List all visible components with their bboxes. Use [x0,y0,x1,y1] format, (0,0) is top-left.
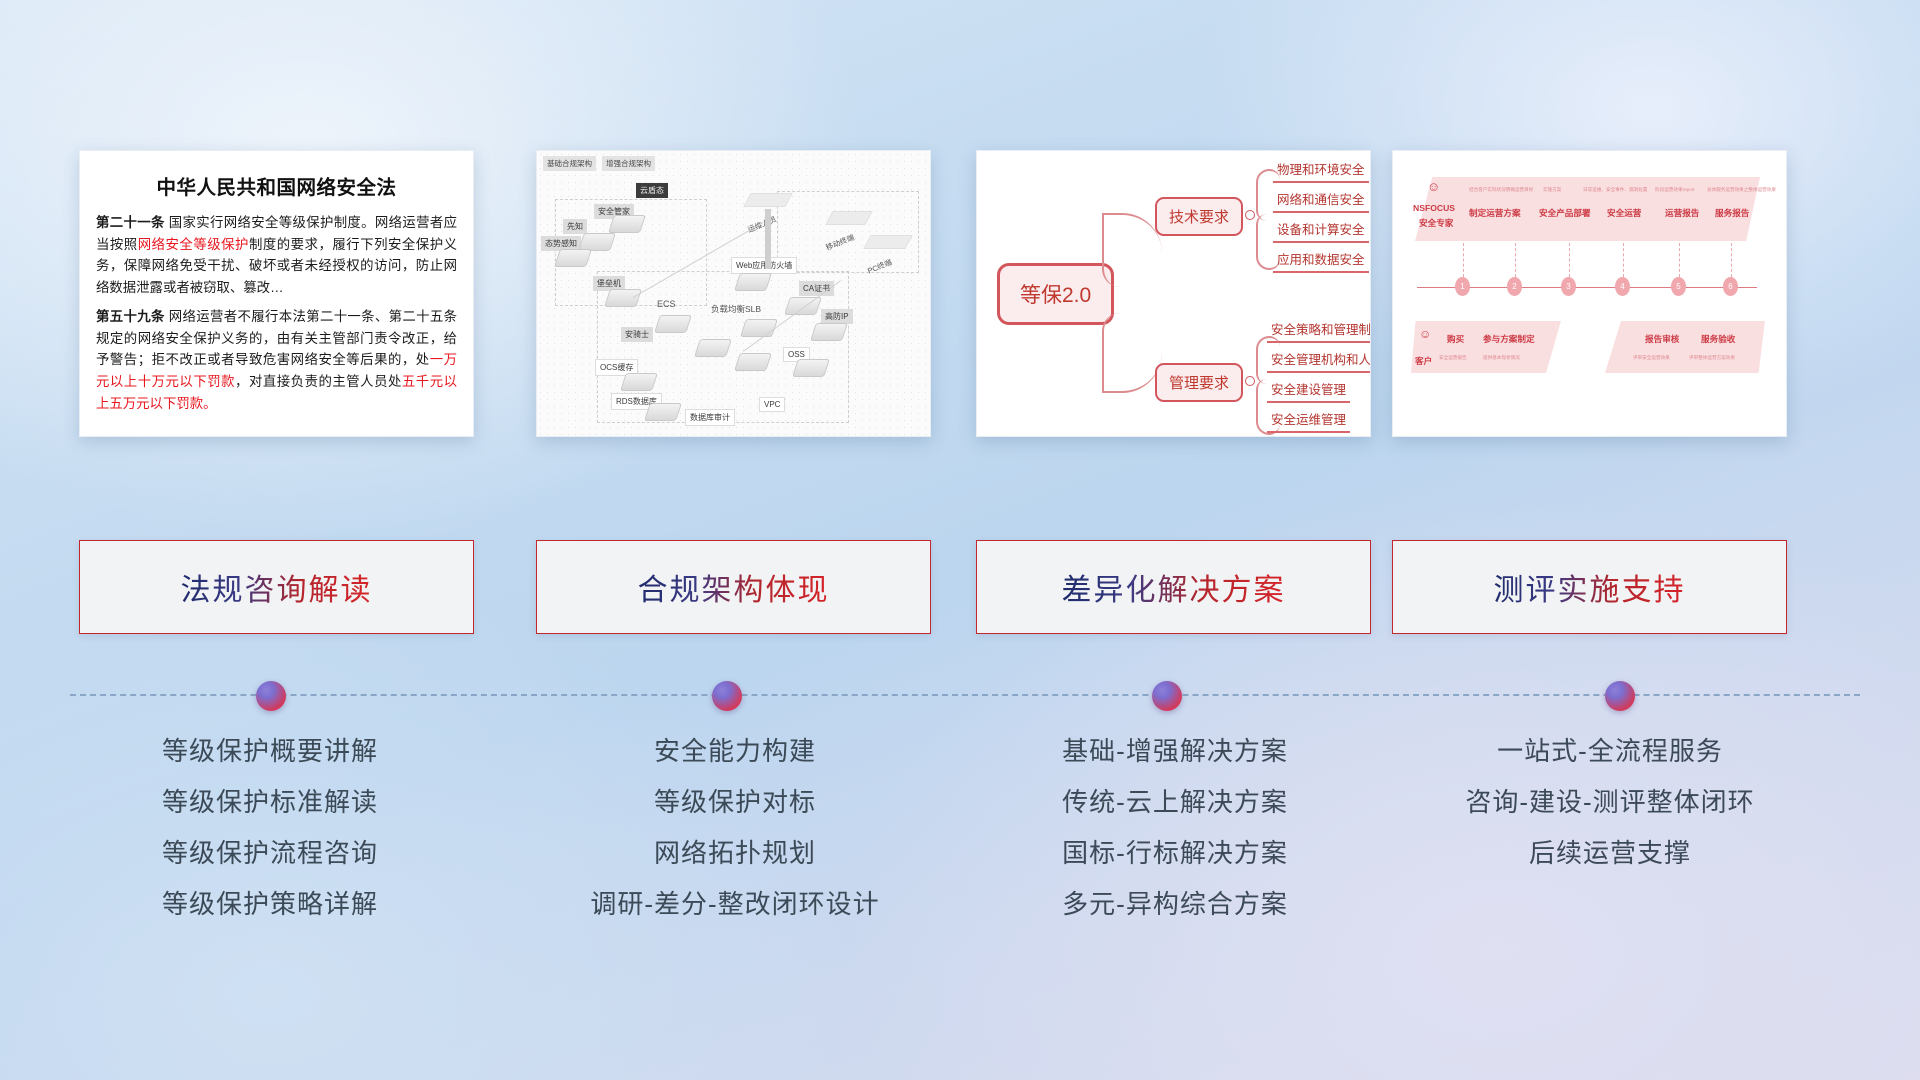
mindmap-leaf-mgmt-1[interactable]: 安全策略和管理制度 [1267,319,1371,343]
mindmap-leaf-tech-4[interactable]: 应用和数据安全 [1273,249,1369,273]
arch-node-8 [734,273,772,291]
detail-list-solution: 基础-增强解决方案 传统-云上解决方案 国标-行标解决方案 多元-异构综合方案 [940,738,1410,942]
customer-label: 客户 [1415,355,1432,367]
heading-box-regulation-consulting[interactable]: 法规咨询解读 [79,540,474,634]
roadmap-diagram: ☺ NSFOCUS 安全专家 结合客户实际状况明确运营目标 制定运营方案 实施方… [1393,151,1786,436]
mindmap-curve-top [1102,213,1162,287]
arch-label-vpc: VPC [759,397,785,412]
vendor-label-line1: NSFOCUS [1413,203,1455,213]
mindmap-leaf-mgmt-3[interactable]: 安全建设管理 [1267,379,1350,403]
tab-enhanced-architecture[interactable]: 增强合规架构 [602,156,655,171]
heading-label-3: 差异化解决方案 [1062,565,1286,609]
arch-link-3 [765,209,771,269]
roadmap-step-marker-6[interactable]: 6 [1723,277,1738,296]
detail-list-row: 等级保护概要讲解 等级保护标准解读 等级保护流程咨询 等级保护策略详解 安全能力… [0,738,1920,998]
detail-list-regulation: 等级保护概要讲解 等级保护标准解读 等级保护流程咨询 等级保护策略详解 [35,738,505,942]
arch-label-ops-staff: 运维人员 [746,214,778,235]
customer-step-2-title: 参与方案制定 [1483,333,1535,345]
arch-node-12 [792,359,830,377]
arch-label-anqishi: 安骑士 [621,327,653,342]
heading-label-1: 法规咨询解读 [181,565,373,609]
mindmap-leaf-mgmt-4[interactable]: 安全运维管理 [1267,409,1350,433]
list-item: 基础-增强解决方案 [940,738,1410,764]
vendor-label-line2: 安全专家 [1419,217,1453,229]
mindmap-dot-management[interactable] [1245,376,1255,386]
card-mlps-mindmap[interactable]: 等保2.0 技术要求 管理要求 物理和环境安全 网络和通信安全 设备和计算安全 … [976,150,1371,437]
roadmap-customer-band-right [1605,321,1765,373]
customer-step-3-sub: 评审安全运营效果 [1633,355,1670,361]
mindmap-leaf-tech-1[interactable]: 物理和环境安全 [1273,159,1369,183]
roadmap-connector-2 [1515,243,1517,277]
arch-node-11 [810,323,848,341]
roadmap-step-5-sub: 总体服务运营效果之整体运营效果 [1707,187,1776,193]
mindmap-leaf-tech-3[interactable]: 设备和计算安全 [1273,219,1369,243]
heading-box-differentiated-solution[interactable]: 差异化解决方案 [976,540,1371,634]
heading-label-2: 合规架构体现 [638,565,830,609]
architecture-tabs: 基础合规架构 增强合规架构 [543,156,655,171]
law-document: 中华人民共和国网络安全法 第二十一条 国家实行网络安全等级保护制度。网络运营者应… [80,151,473,436]
architecture-diagram: 基础合规架构 增强合规架构 云盾态 安全管家 先知 态势感知 堡垒机 ECS 安… [537,151,930,436]
list-item: 等级保护标准解读 [35,789,505,815]
list-item: 网络拓扑规划 [500,840,970,866]
list-item: 等级保护对标 [500,789,970,815]
law-article-59: 第五十九条 网络运营者不履行本法第二十一条、第二十五条规定的网络安全保护义务的，… [96,306,457,415]
roadmap-step-marker-3[interactable]: 3 [1561,277,1576,296]
arch-node-13 [620,373,658,391]
arch-node-4 [604,289,642,307]
list-item: 传统-云上解决方案 [940,789,1410,815]
timeline-dot-2[interactable] [712,681,742,711]
article-number-59: 第五十九条 [96,309,165,324]
list-item: 等级保护流程咨询 [35,840,505,866]
arch-node-6 [694,339,732,357]
article-21-highlight-1: 网络安全等级保护 [138,237,249,252]
roadmap-customer-band-left [1411,321,1561,373]
card-compliance-architecture[interactable]: 基础合规架构 增强合规架构 云盾态 安全管家 先知 态势感知 堡垒机 ECS 安… [536,150,931,437]
heading-label-4: 测评实施支持 [1494,565,1686,609]
timeline-dot-3[interactable] [1152,681,1182,711]
list-item: 等级保护策略详解 [35,891,505,917]
card-nsfocus-roadmap[interactable]: ☺ NSFOCUS 安全专家 结合客户实际状况明确运营目标 制定运营方案 实施方… [1392,150,1787,437]
arch-node-5 [654,315,692,333]
tab-basic-architecture[interactable]: 基础合规架构 [543,156,596,171]
arch-node-3 [554,249,592,267]
timeline-dot-1[interactable] [256,681,286,711]
roadmap-step-2-sub: 实施方案 [1543,187,1561,193]
mindmap-branch-technical[interactable]: 技术要求 [1155,197,1243,236]
arch-node-1 [608,215,646,233]
customer-step-4-sub: 评审整体运营方案效果 [1689,355,1735,361]
arch-node-7 [734,353,772,371]
arch-label-cloudshield: 云盾态 [636,183,668,198]
card-cybersecurity-law[interactable]: 中华人民共和国网络安全法 第二十一条 国家实行网络安全等级保护制度。网络运营者应… [79,150,474,437]
customer-step-1-sub: 安全运营报告 [1439,355,1467,361]
list-item: 调研-差分-整改闭环设计 [500,891,970,917]
customer-step-2-sub: 提供基本现状情况 [1483,355,1520,361]
arch-label-db-audit: 数据库审计 [685,409,735,426]
mindmap-branch-management[interactable]: 管理要求 [1155,363,1243,402]
arch-label-xianzhi: 先知 [563,219,587,234]
list-item: 国标-行标解决方案 [940,840,1410,866]
customer-person-icon: ☺ [1419,327,1431,341]
roadmap-step-1-title: 制定运营方案 [1469,207,1521,219]
preview-card-row: 中华人民共和国网络安全法 第二十一条 国家实行网络安全等级保护制度。网络运营者应… [0,150,1920,440]
arch-node-9 [740,319,778,337]
timeline-track [70,694,1860,699]
roadmap-connector-3 [1569,243,1571,277]
heading-row: 法规咨询解读 合规架构体现 差异化解决方案 测评实施支持 [0,540,1920,640]
arch-plate-1 [743,193,792,207]
customer-step-3-title: 报告审核 [1645,333,1679,345]
roadmap-connector-1 [1463,243,1465,277]
mindmap-leaf-mgmt-2[interactable]: 安全管理机构和人员 [1267,349,1371,373]
slide-canvas: 中华人民共和国网络安全法 第二十一条 国家实行网络安全等级保护制度。网络运营者应… [0,0,1920,1080]
arch-plate-2 [825,211,872,225]
law-title: 中华人民共和国网络安全法 [96,171,457,200]
list-item: 安全能力构建 [500,738,970,764]
customer-step-1-title: 购买 [1447,333,1464,345]
article-59-text-2: ，对直接负责的主管人员处 [235,374,402,389]
list-item: 等级保护概要讲解 [35,738,505,764]
roadmap-connector-5 [1679,243,1681,277]
roadmap-connector-6 [1731,243,1733,277]
list-item: 咨询-建设-测评整体闭环 [1375,789,1845,815]
arch-label-anti-ddos: 高防IP [821,309,853,324]
detail-list-architecture: 安全能力构建 等级保护对标 网络拓扑规划 调研-差分-整改闭环设计 [500,738,970,942]
roadmap-step-marker-5[interactable]: 5 [1671,277,1686,296]
mindmap-dot-technical[interactable] [1245,210,1255,220]
roadmap-step-3-title: 安全运营 [1607,207,1641,219]
roadmap-step-4-title: 运营报告 [1665,207,1699,219]
heading-box-assessment-support[interactable]: 测评实施支持 [1392,540,1787,634]
roadmap-step-marker-1[interactable]: 1 [1455,277,1470,296]
list-item: 多元-异构综合方案 [940,891,1410,917]
heading-box-compliance-architecture[interactable]: 合规架构体现 [536,540,931,634]
roadmap-step-2-title: 安全产品部署 [1539,207,1591,219]
roadmap-step-1-sub: 结合客户实际状况明确运营目标 [1469,187,1533,193]
roadmap-step-5-title: 服务报告 [1715,207,1749,219]
detail-list-assessment: 一站式-全流程服务 咨询-建设-测评整体闭环 后续运营支撑 [1375,738,1845,891]
vendor-person-icon: ☺ [1427,179,1440,194]
arch-node-14 [644,403,682,421]
article-number-21: 第二十一条 [96,215,165,230]
arch-plate-3 [863,235,912,249]
list-item: 一站式-全流程服务 [1375,738,1845,764]
customer-step-4-title: 服务验收 [1701,333,1735,345]
roadmap-step-marker-2[interactable]: 2 [1507,277,1522,296]
roadmap-step-4-sub: 阶段运营效果report [1655,187,1695,193]
list-item: 后续运营支撑 [1375,840,1845,866]
arch-label-slb: 负载均衡SLB [711,303,761,315]
arch-label-ecs: ECS [657,299,676,309]
roadmap-step-3-sub: 日常运维、安全事件、漏洞处置 [1583,187,1647,193]
mindmap-diagram: 等保2.0 技术要求 管理要求 物理和环境安全 网络和通信安全 设备和计算安全 … [977,151,1370,436]
mindmap-curve-bottom [1102,313,1162,393]
roadmap-step-marker-4[interactable]: 4 [1615,277,1630,296]
mindmap-leaf-tech-2[interactable]: 网络和通信安全 [1273,189,1369,213]
mindmap-root-node[interactable]: 等保2.0 [997,263,1114,325]
law-article-21: 第二十一条 国家实行网络安全等级保护制度。网络运营者应当按照网络安全等级保护制度… [96,212,457,299]
roadmap-connector-4 [1623,243,1625,277]
timeline-dot-4[interactable] [1605,681,1635,711]
